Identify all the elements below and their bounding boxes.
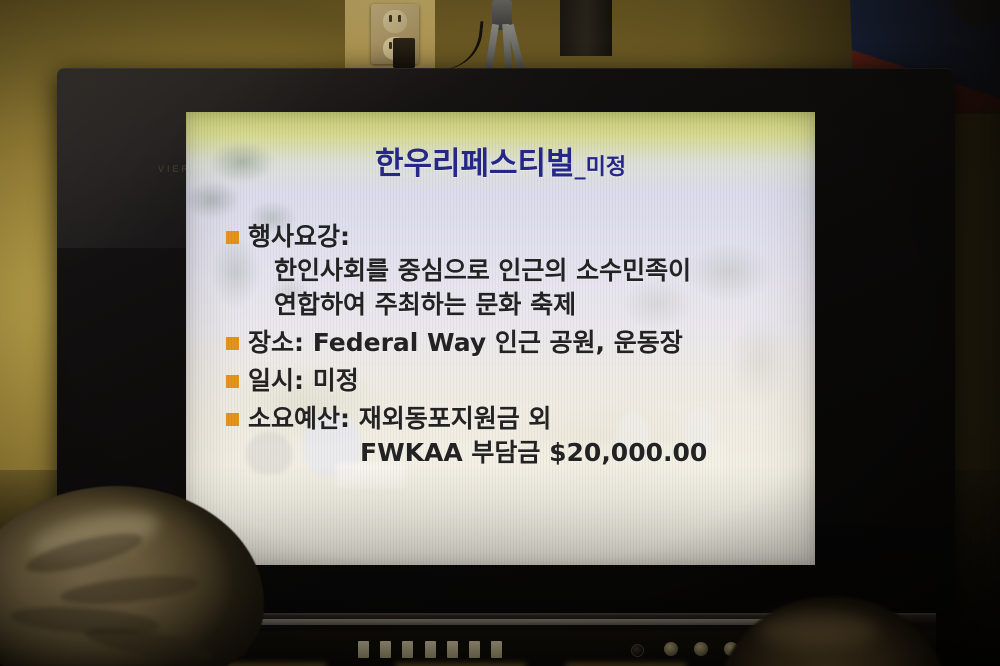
av-function-button[interactable] xyxy=(425,641,436,658)
av-top-trim xyxy=(256,619,776,625)
av-function-button[interactable] xyxy=(380,641,391,658)
bullet-body: 일시: 미정 xyxy=(248,364,815,398)
bullet-square-icon xyxy=(226,231,239,244)
av-function-button[interactable] xyxy=(469,641,480,658)
bullet-square-icon xyxy=(226,413,239,426)
bullet-label: 행사요강: xyxy=(248,220,815,254)
tripod-stand xyxy=(470,0,540,72)
bullet-body: 소요예산: 재외동포지원금 외 FWKAA 부담금 $20,000.00 xyxy=(248,402,815,470)
slide-bullet-list: 행사요강: 한인사회를 중심으로 인근의 소수민족이 연합하여 주최하는 문화 … xyxy=(226,220,815,474)
list-item: 소요예산: 재외동포지원금 외 FWKAA 부담금 $20,000.00 xyxy=(226,402,815,470)
list-item: 일시: 미정 xyxy=(226,364,815,398)
slide-title-suffix: _미정 xyxy=(575,155,626,180)
av-function-button[interactable] xyxy=(491,641,502,658)
av-function-button[interactable] xyxy=(358,641,369,658)
bullet-body: 장소: Federal Way 인근 공원, 운동장 xyxy=(248,326,815,360)
list-item: 장소: Federal Way 인근 공원, 운동장 xyxy=(226,326,815,360)
av-control-knob[interactable] xyxy=(694,642,708,656)
av-function-button[interactable] xyxy=(447,641,458,658)
photo-scene: VIERA 한우리페스티벌_미정 xyxy=(0,0,1000,666)
slide-content: 한우리페스티벌_미정 행사요강: 한인사회를 중심으로 인근의 소수민족이 연합… xyxy=(186,112,815,565)
bullet-square-icon xyxy=(226,375,239,388)
bullet-subline: 한인사회를 중심으로 인근의 소수민족이 xyxy=(248,254,815,288)
tv-screen[interactable]: 한우리페스티벌_미정 행사요강: 한인사회를 중심으로 인근의 소수민족이 연합… xyxy=(186,112,815,565)
av-function-button[interactable] xyxy=(402,641,413,658)
wall-power-outlet xyxy=(371,4,419,64)
bullet-label: 소요예산: 재외동포지원금 외 xyxy=(248,402,815,436)
slide-title: 한우리페스티벌_미정 xyxy=(186,138,815,183)
hair-highlight xyxy=(758,614,878,648)
slide-title-main: 한우리페스티벌 xyxy=(375,146,575,182)
bullet-body: 행사요강: 한인사회를 중심으로 인근의 소수민족이 연합하여 주최하는 문화 … xyxy=(248,220,815,322)
bullet-label: 장소: Federal Way 인근 공원, 운동장 xyxy=(248,326,815,360)
ceiling-pole xyxy=(560,0,612,56)
bullet-square-icon xyxy=(226,337,239,350)
bullet-subline: 연합하여 주최하는 문화 축제 xyxy=(248,288,815,322)
bullet-label: 일시: 미정 xyxy=(248,364,815,398)
bullet-subline: FWKAA 부담금 $20,000.00 xyxy=(248,436,815,470)
outlet-socket-top xyxy=(383,10,407,33)
outlet-plug xyxy=(393,38,415,68)
av-control-knob[interactable] xyxy=(664,642,678,656)
av-headphone-jack[interactable] xyxy=(631,644,644,657)
list-item: 행사요강: 한인사회를 중심으로 인근의 소수민족이 연합하여 주최하는 문화 … xyxy=(226,220,815,322)
hair-strand xyxy=(59,571,201,610)
